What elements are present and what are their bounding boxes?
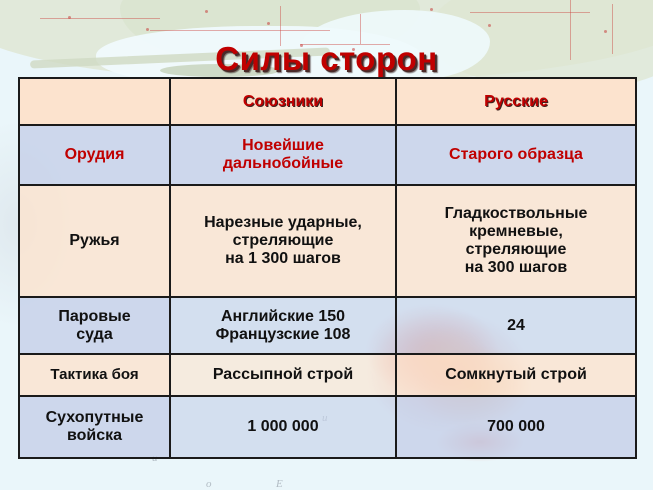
map-city-dot — [604, 30, 607, 33]
cell-line: Сомкнутый строй — [401, 366, 631, 384]
table-row: Тактика боя Рассыпной строй Сомкнутый ст… — [19, 354, 636, 396]
cell-allies-steamships: Английские 150 Французские 108 — [170, 297, 396, 354]
row-label-rifles: Ружья — [19, 185, 170, 297]
map-road-line — [150, 30, 330, 31]
row-label-steamships: Паровые суда — [19, 297, 170, 354]
cell-allies-land-forces: 1 000 000 — [170, 396, 396, 458]
cell-allies-artillery: Новейшие дальнобойные — [170, 125, 396, 185]
map-road-line — [470, 12, 590, 13]
cell-line: Паровые — [24, 308, 165, 326]
table-row: Сухопутные войска 1 000 000 700 000 — [19, 396, 636, 458]
table-row: Паровые суда Английские 150 Французские … — [19, 297, 636, 354]
cell-allies-tactics: Рассыпной строй — [170, 354, 396, 396]
cell-line: Гладкоствольные — [401, 205, 631, 223]
cell-line: суда — [24, 326, 165, 344]
cell-russians-land-forces: 700 000 — [396, 396, 636, 458]
cell-line: на 300 шагов — [401, 259, 631, 277]
header-cell-allies: Союзники — [170, 78, 396, 125]
cell-line: Нарезные ударные, — [175, 214, 391, 232]
map-city-dot — [205, 10, 208, 13]
page-title: Силы сторон — [0, 40, 653, 78]
map-label: Е — [276, 478, 283, 490]
table-row: Ружья Нарезные ударные, стреляющие на 1 … — [19, 185, 636, 297]
row-label-tactics: Тактика боя — [19, 354, 170, 396]
map-road-line — [40, 18, 160, 19]
cell-line: Французские 108 — [175, 326, 391, 344]
map-city-dot — [488, 24, 491, 27]
comparison-table-wrapper: Союзники Русские Орудия Новейшие дальноб… — [18, 77, 635, 459]
cell-line: дальнобойные — [175, 155, 391, 173]
comparison-table: Союзники Русские Орудия Новейшие дальноб… — [18, 77, 637, 459]
cell-russians-artillery: Старого образца — [396, 125, 636, 185]
row-label-land-forces: Сухопутные войска — [19, 396, 170, 458]
row-label-artillery: Орудия — [19, 125, 170, 185]
map-city-dot — [267, 22, 270, 25]
map-city-dot — [146, 28, 149, 31]
cell-line: 1 000 000 — [175, 418, 391, 436]
cell-line: стреляющие — [401, 241, 631, 259]
map-city-dot — [430, 8, 433, 11]
cell-line: 700 000 — [401, 418, 631, 436]
cell-russians-steamships: 24 — [396, 297, 636, 354]
header-cell-category — [19, 78, 170, 125]
slide-canvas: и о Е и Силы сторон Союзники Русские Ору… — [0, 0, 653, 490]
map-label: о — [206, 478, 212, 490]
cell-line: войска — [24, 427, 165, 445]
cell-allies-rifles: Нарезные ударные, стреляющие на 1 300 ша… — [170, 185, 396, 297]
cell-russians-rifles: Гладкоствольные кремневые, стреляющие на… — [396, 185, 636, 297]
table-row: Орудия Новейшие дальнобойные Старого обр… — [19, 125, 636, 185]
cell-line: Английские 150 — [175, 308, 391, 326]
cell-line: Сухопутные — [24, 409, 165, 427]
cell-line: 24 — [401, 317, 631, 335]
cell-line: Рассыпной строй — [175, 366, 391, 384]
cell-line: на 1 300 шагов — [175, 250, 391, 268]
cell-line: стреляющие — [175, 232, 391, 250]
header-cell-russians: Русские — [396, 78, 636, 125]
map-city-dot — [68, 16, 71, 19]
table-header-row: Союзники Русские — [19, 78, 636, 125]
cell-russians-tactics: Сомкнутый строй — [396, 354, 636, 396]
cell-line: кремневые, — [401, 223, 631, 241]
cell-line: Новейшие — [175, 137, 391, 155]
cell-line: Старого образца — [401, 146, 631, 164]
